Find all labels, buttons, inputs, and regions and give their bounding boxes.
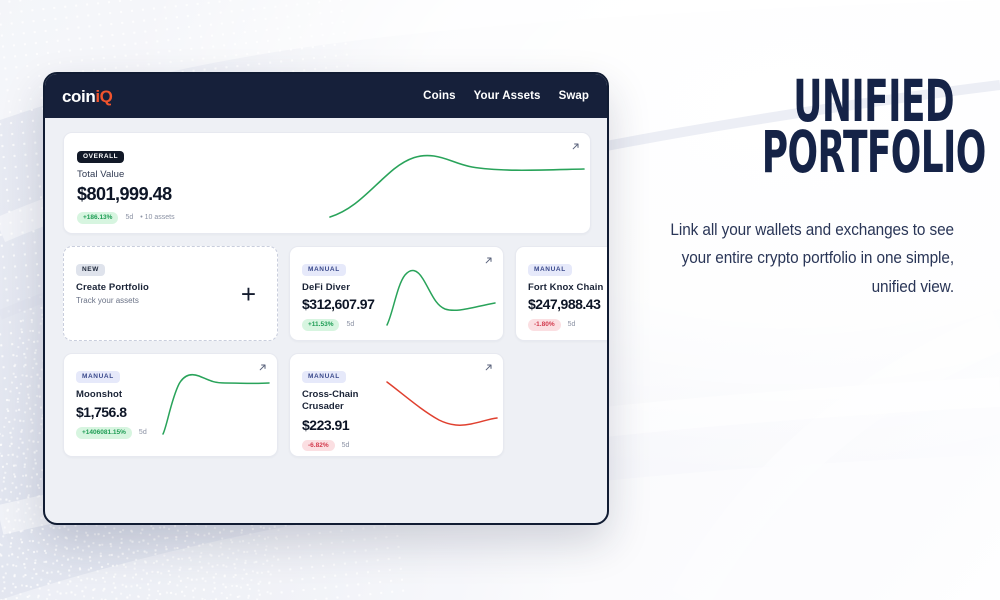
nav-links: Coins Your Assets Swap (423, 90, 589, 102)
top-navigation-bar: coiniQ Coins Your Assets Swap (45, 74, 607, 118)
promo-headline-line2: PORTFOLIO (762, 127, 954, 178)
nav-link-your-assets[interactable]: Your Assets (474, 90, 541, 102)
promo-headline: UNIFIED PORTFOLIO (762, 76, 954, 178)
portfolio-period: 5d (568, 321, 576, 328)
logo-text: coin (62, 87, 95, 106)
portfolio-change-badge: +11.53% (302, 319, 339, 331)
portfolio-card-cross-chain-crusader[interactable]: MANUAL Cross-Chain Crusader $223.91 -6.8… (289, 353, 504, 457)
portfolio-period: 5d (342, 442, 350, 449)
manual-badge: MANUAL (528, 264, 572, 276)
portfolio-sparkline-up (155, 368, 275, 436)
promo-panel: UNIFIED PORTFOLIO Link all your wallets … (644, 76, 954, 301)
portfolio-row-1: NEW Create Portfolio Track your assets +… (63, 246, 591, 341)
logo-accent: iQ (95, 87, 112, 106)
app-window: coiniQ Coins Your Assets Swap OVERALL To… (43, 72, 609, 525)
create-portfolio-title: Create Portfolio (76, 282, 265, 293)
expand-icon[interactable] (569, 140, 582, 153)
overall-portfolio-card[interactable]: OVERALL Total Value $801,999.48 +186.13%… (63, 132, 591, 234)
overall-sparkline (322, 143, 590, 223)
expand-icon[interactable] (256, 361, 269, 374)
overall-change-badge: +186.13% (77, 212, 118, 224)
manual-badge: MANUAL (302, 371, 346, 383)
portfolio-sparkline-up (381, 261, 501, 329)
portfolio-value: $247,988.43 (528, 296, 609, 312)
portfolio-name: Fort Knox Chain (528, 282, 609, 293)
nav-link-coins[interactable]: Coins (423, 90, 455, 102)
portfolio-meta-row: -6.82% 5d (302, 440, 491, 452)
create-portfolio-card[interactable]: NEW Create Portfolio Track your assets + (63, 246, 278, 341)
portfolio-sparkline-down (381, 368, 501, 436)
expand-icon[interactable] (482, 361, 495, 374)
plus-icon[interactable]: + (241, 281, 256, 307)
portfolio-card-fort-knox-chain[interactable]: MANUAL Fort Knox Chain $247,988.43 -1.80… (515, 246, 609, 341)
promo-body-text: Link all your wallets and exchanges to s… (666, 216, 954, 301)
create-portfolio-subtitle: Track your assets (76, 296, 265, 305)
portfolio-period: 5d (139, 429, 147, 436)
portfolio-change-badge: -1.80% (528, 319, 561, 331)
nav-link-swap[interactable]: Swap (559, 90, 589, 102)
manual-badge: MANUAL (302, 264, 346, 276)
overall-asset-count: • 10 assets (140, 214, 174, 221)
expand-icon[interactable] (482, 254, 495, 267)
portfolio-card-moonshot[interactable]: MANUAL Moonshot $1,756.8 +1406081.15% 5d (63, 353, 278, 457)
portfolio-card-defi-diver[interactable]: MANUAL DeFi Diver $312,607.97 +11.53% 5d (289, 246, 504, 341)
overall-period: 5d (125, 214, 133, 221)
portfolio-period: 5d (346, 321, 354, 328)
portfolio-change-badge: +1406081.15% (76, 427, 132, 439)
app-logo[interactable]: coiniQ (62, 88, 113, 105)
dashboard-content: OVERALL Total Value $801,999.48 +186.13%… (45, 118, 607, 525)
portfolio-meta-row: -1.80% 5d (528, 319, 609, 331)
manual-badge: MANUAL (76, 371, 120, 383)
overall-badge: OVERALL (77, 151, 124, 163)
portfolio-row-2: MANUAL Moonshot $1,756.8 +1406081.15% 5d… (63, 353, 591, 457)
new-badge: NEW (76, 264, 105, 276)
portfolio-change-badge: -6.82% (302, 440, 335, 452)
